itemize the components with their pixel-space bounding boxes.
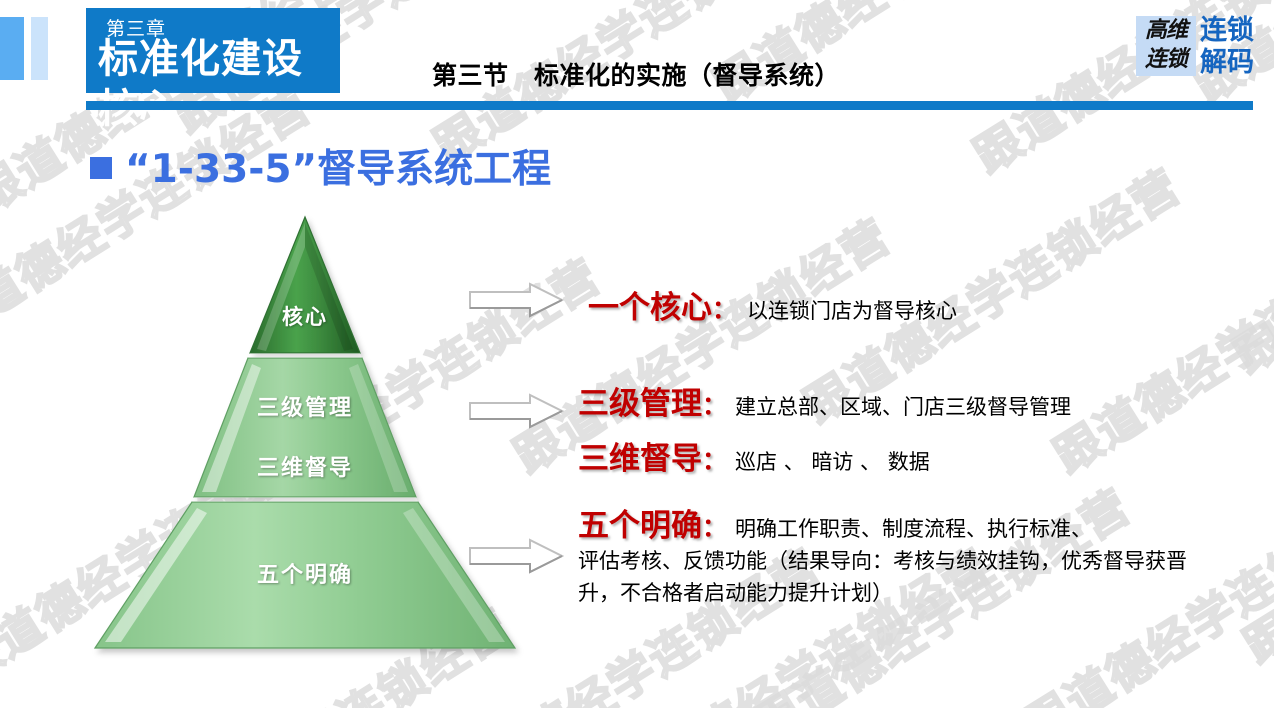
chapter-title-label: 标准化建设核心 bbox=[98, 34, 340, 134]
body-five-clear-head: 明确工作职责、制度流程、执行标准、 bbox=[735, 514, 1092, 546]
keyword-three-level: 三级管理 bbox=[578, 378, 702, 423]
chapter-badge: 第三章 标准化建设核心 bbox=[86, 8, 340, 93]
watermark-text-17: 跟道德经学连锁经营 bbox=[1230, 391, 1274, 676]
keyword-five-clear-colon: ： bbox=[702, 508, 727, 544]
right-block-arrow-icon-2 bbox=[468, 393, 564, 434]
section-title-label: 第三节 标准化的实施（督导系统） bbox=[432, 56, 840, 92]
content-block-five-clear: 五个明确 ： 明确工作职责、制度流程、执行标准、 评估考核、反馈功能（结果导向：… bbox=[578, 500, 1198, 610]
logo-wordmark-line2: 解码 bbox=[1200, 47, 1254, 79]
content-row-five-clear-head: 五个明确 ： 明确工作职责、制度流程、执行标准、 bbox=[578, 500, 1198, 546]
keyword-one-core: 一个核心 bbox=[588, 282, 712, 327]
slide-header: 第三章 标准化建设核心 第三节 标准化的实施（督导系统） bbox=[0, 0, 1274, 115]
page-title: “1-33-5”督导系统工程 bbox=[90, 138, 551, 194]
logo-wordmark-line1: 连锁 bbox=[1200, 15, 1254, 47]
body-one-core: 以连锁门店为督导核心 bbox=[747, 295, 957, 325]
pyramid-svg bbox=[80, 205, 530, 665]
keyword-three-level-colon: ： bbox=[702, 386, 727, 422]
logo-calligraphy-badge: 高维 连锁 bbox=[1136, 16, 1196, 76]
logo-calligraphy-line1: 高维 bbox=[1136, 16, 1196, 45]
keyword-five-clear: 五个明确 bbox=[578, 500, 702, 545]
page-title-text: “1-33-5”督导系统工程 bbox=[125, 138, 551, 194]
right-block-arrow-icon-1 bbox=[468, 282, 564, 323]
keyword-three-dimension-colon: ： bbox=[702, 441, 727, 477]
body-five-clear-rest: 评估考核、反馈功能（结果导向：考核与绩效挂钩，优秀督导获晋升，不合格者启动能力提… bbox=[578, 546, 1198, 610]
logo-wordmark: 连锁 解码 bbox=[1200, 15, 1254, 79]
keyword-three-dimension: 三维督导 bbox=[578, 433, 702, 478]
square-bullet-icon bbox=[90, 157, 112, 179]
pyramid-diagram: 核心 三级管理 三维督导 五个明确 bbox=[80, 205, 530, 665]
body-three-dimension: 巡店 、 暗访 、 数据 bbox=[735, 446, 930, 476]
body-three-level: 建立总部、区域、门店三级督导管理 bbox=[735, 391, 1071, 421]
content-block-three-level: 三级管理 ： 建立总部、区域、门店三级督导管理 三维督导 ： 巡店 、 暗访 、… bbox=[578, 378, 1071, 478]
content-row-three-dimension: 三维督导 ： 巡店 、 暗访 、 数据 bbox=[578, 433, 1071, 478]
brand-logo: 高维 连锁 连锁 解码 bbox=[1136, 16, 1266, 84]
content-row-three-level: 三级管理 ： 建立总部、区域、门店三级督导管理 bbox=[578, 378, 1071, 423]
header-decor-block-primary bbox=[0, 17, 24, 80]
logo-calligraphy-line2: 连锁 bbox=[1136, 45, 1196, 74]
header-decor-block-secondary bbox=[31, 17, 48, 80]
content-block-one-core: 一个核心 ： 以连锁门店为督导核心 bbox=[588, 282, 957, 327]
right-block-arrow-icon-3 bbox=[468, 538, 564, 579]
watermark-text-11: 跟道德经学连锁经营 bbox=[1040, 201, 1274, 486]
header-divider-rule bbox=[86, 101, 1253, 110]
watermark-text-12: 跟道德经学连锁经营 bbox=[1220, 101, 1274, 386]
keyword-one-core-colon: ： bbox=[712, 290, 737, 326]
